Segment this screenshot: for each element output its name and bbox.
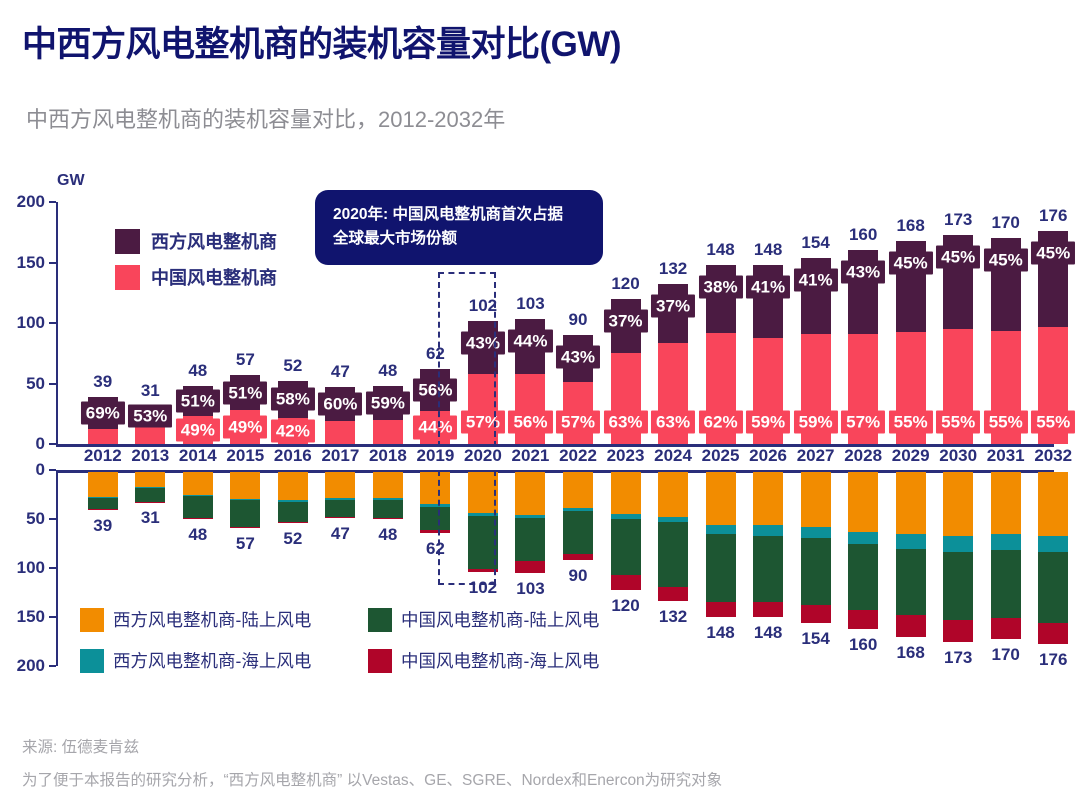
bottom-bar-total-label: 170 [992,645,1020,665]
bottom-bar-segment-china-offshore [230,527,260,528]
top-bar-total-label: 48 [378,361,397,381]
bottom-bar-segment-western-offshore [801,527,831,538]
top-y-tick-label: 100 [17,313,45,333]
bottom-bar-segment-china-offshore [325,517,355,518]
bottom-bar-segment-western-onshore [373,472,403,498]
legend-swatch-western-onshore [80,608,104,632]
legend-item-china-oem[interactable]: 中国风电整机商 [115,264,277,290]
bottom-bar-segment-western-offshore [753,525,783,536]
bottom-bar-segment-china-offshore [563,554,593,560]
top-bar-total-label: 52 [283,356,302,376]
top-y-tick-label: 50 [26,374,45,394]
bottom-bar-segment-western-onshore [943,472,973,536]
top-bar-pct-western: 45% [984,249,1028,272]
bottom-bar [563,472,593,560]
highlight-box-top [438,272,496,447]
bottom-bar-total-label: 48 [188,525,207,545]
top-y-tick [49,322,56,324]
top-y-tick [49,383,56,385]
bottom-bar-segment-china-offshore [135,502,165,503]
top-bar-pct-china: 49% [176,418,220,441]
bottom-y-axis [56,470,58,666]
top-bar-total-label: 47 [331,362,350,382]
bottom-bar-segment-china-offshore [943,620,973,642]
top-bar-total-label: 103 [516,294,544,314]
bottom-bar-segment-china-onshore [1038,552,1068,623]
top-bar-total-label: 39 [93,372,112,392]
x-axis-label-2013: 2013 [131,446,169,466]
bottom-y-tick [49,518,56,520]
bottom-bar-total-label: 176 [1039,650,1067,670]
bottom-bar-segment-china-onshore [848,544,878,611]
top-bar-pct-china: 49% [223,416,267,439]
legend-label-western-oem: 西方风电整机商 [151,228,277,254]
bottom-bar-segment-western-onshore [658,472,688,517]
bottom-bar-segment-china-onshore [325,500,355,518]
definition-footnote: 为了便于本报告的研究分析，“西方风电整机商” 以Vestas、GE、SGRE、N… [22,768,722,790]
callout-annotation: 2020年: 中国风电整机商首次占据 全球最大市场份额 [315,190,603,265]
bottom-bar-total-label: 90 [569,566,588,586]
bottom-bar-segment-china-offshore [991,618,1021,639]
top-bar-pct-western: 43% [556,346,600,369]
bottom-bar [848,472,878,629]
callout-line-1: 2020年: 中国风电整机商首次占据 [333,203,587,227]
bottom-y-tick-label: 50 [26,509,45,529]
bottom-bar-segment-western-offshore [991,534,1021,551]
legend-swatch-western-offshore [80,649,104,673]
bottom-bar-segment-western-onshore [753,472,783,525]
bottom-y-tick-label: 100 [17,558,45,578]
top-bar-segment-china [373,420,403,444]
source-footnote: 来源: 伍德麦肯兹 [22,735,139,757]
top-bar-pct-western: 58% [271,388,315,411]
bottom-bar-segment-china-onshore [278,502,308,522]
top-bar-pct-western: 37% [651,295,695,318]
top-bar-pct-china: 42% [271,419,315,442]
bottom-bar-segment-china-offshore [373,518,403,519]
top-bar-pct-western: 41% [746,275,790,298]
bottom-bar [1038,472,1068,644]
legend-swatch-china-offshore [368,649,392,673]
bottom-bar-segment-china-onshore [611,519,641,576]
bottom-bar-segment-western-offshore [1038,536,1068,553]
legend-item-china-onshore[interactable]: 中国风电整机商-陆上风电 [368,607,599,632]
x-axis-label-2026: 2026 [749,446,787,466]
top-bar-segment-china [135,426,165,444]
x-axis-label-2015: 2015 [226,446,264,466]
bottom-bar-segment-china-onshore [183,496,213,518]
top-bar-pct-western: 38% [699,275,743,298]
bottom-bar-segment-china-offshore [611,575,641,589]
top-bar-total-label: 90 [569,310,588,330]
legend-item-china-offshore[interactable]: 中国风电整机商-海上风电 [368,648,599,673]
top-bar-pct-china: 55% [1031,410,1075,433]
bottom-bar [135,472,165,502]
x-axis-label-2017: 2017 [321,446,359,466]
bottom-bar-total-label: 31 [141,508,160,528]
legend-item-western-offshore[interactable]: 西方风电整机商-海上风电 [80,648,311,673]
bottom-bar [230,472,260,528]
x-axis-label-2018: 2018 [369,446,407,466]
bottom-bar-total-label: 52 [283,529,302,549]
top-bar-total-label: 170 [992,213,1020,233]
bottom-bar [801,472,831,623]
bottom-bar-segment-china-offshore [658,587,688,602]
bottom-bar [515,472,545,573]
x-axis-label-2021: 2021 [512,446,550,466]
top-bar-total-label: 160 [849,225,877,245]
bottom-bar-segment-western-onshore [325,472,355,498]
bottom-bar-segment-western-onshore [611,472,641,514]
top-chart-legend: 西方风电整机商中国风电整机商 [115,228,277,300]
top-bar-pct-western: 45% [1031,242,1075,265]
top-bar-pct-china: 59% [746,410,790,433]
top-bar-pct-western: 59% [366,392,410,415]
bottom-bar-segment-china-offshore [706,602,736,617]
top-y-tick [49,443,56,445]
top-y-tick-label: 150 [17,253,45,273]
bottom-bar-segment-western-onshore [278,472,308,500]
bottom-bar-segment-western-offshore [896,534,926,550]
legend-item-western-onshore[interactable]: 西方风电整机商-陆上风电 [80,607,311,632]
x-axis-label-2030: 2030 [939,446,977,466]
x-axis-label-2016: 2016 [274,446,312,466]
bottom-bar-segment-china-offshore [801,605,831,623]
top-bar-pct-china: 55% [936,410,980,433]
top-y-axis [56,202,58,444]
bottom-bar [611,472,641,590]
x-axis-label-2027: 2027 [797,446,835,466]
bottom-bar-segment-china-offshore [1038,623,1068,645]
bottom-y-tick-label: 0 [36,460,45,480]
top-bar-pct-china: 59% [794,410,838,433]
legend-label-western-onshore: 西方风电整机商-陆上风电 [113,607,311,632]
top-bar-pct-western: 37% [604,309,648,332]
callout-line-2: 全球最大市场份额 [333,227,587,251]
bottom-bar-segment-china-onshore [801,538,831,606]
bottom-bar-segment-western-offshore [943,536,973,553]
x-axis-labels: 2012201320142015201620172018201920202021… [56,446,1054,470]
bottom-bar-total-label: 132 [659,607,687,627]
bottom-bar [991,472,1021,639]
legend-swatch-china-oem [115,265,140,290]
bottom-bar-total-label: 148 [754,623,782,643]
top-bar-segment-china [325,421,355,444]
top-bar-total-label: 173 [944,210,972,230]
top-y-tick [49,262,56,264]
bottom-bar-segment-china-offshore [278,522,308,523]
bottom-bar-segment-china-onshore [706,534,736,603]
bottom-bar-segment-china-onshore [896,549,926,615]
bottom-bar-segment-western-onshore [896,472,926,534]
bottom-bar-total-label: 154 [801,629,829,649]
bottom-bar-segment-western-onshore [563,472,593,508]
top-bar-total-label: 148 [706,240,734,260]
bottom-bar-segment-western-offshore [848,532,878,544]
bottom-bar-segment-china-onshore [515,518,545,561]
bottom-bar [183,472,213,519]
bottom-bar-segment-china-onshore [135,488,165,502]
top-bar-total-label: 48 [188,361,207,381]
bottom-bar [943,472,973,642]
bottom-bar-segment-china-offshore [183,518,213,519]
bottom-bar-segment-china-onshore [943,552,973,620]
bottom-bar-segment-western-onshore [1038,472,1068,536]
legend-label-china-offshore: 中国风电整机商-海上风电 [401,648,599,673]
bottom-bar [373,472,403,519]
bottom-bar-total-label: 39 [93,516,112,536]
x-axis-label-2032: 2032 [1034,446,1072,466]
top-bar-total-label: 132 [659,259,687,279]
top-bar-pct-china: 55% [984,410,1028,433]
bottom-bar-segment-china-offshore [515,561,545,573]
bottom-bar-total-label: 47 [331,524,350,544]
bottom-y-tick [49,616,56,618]
bottom-bar-segment-western-onshore [991,472,1021,534]
bottom-bar [896,472,926,637]
page-subtitle: 中西方风电整机商的装机容量对比，2012-2032年 [26,102,1056,134]
x-axis-label-2020: 2020 [464,446,502,466]
top-y-tick [49,201,56,203]
bottom-y-tick [49,469,56,471]
highlight-box-bottom [438,470,496,585]
bottom-bar-total-label: 148 [706,623,734,643]
x-axis-label-2019: 2019 [417,446,455,466]
top-y-tick-label: 0 [36,434,45,454]
bottom-bar-segment-western-offshore [706,525,736,534]
top-bar-total-label: 176 [1039,206,1067,226]
top-y-tick-label: 200 [17,192,45,212]
bottom-bar-total-label: 48 [378,525,397,545]
bottom-bar [706,472,736,617]
top-bar-total-label: 148 [754,240,782,260]
x-axis-label-2025: 2025 [702,446,740,466]
top-bar-pct-china: 56% [508,410,552,433]
top-bar-pct-western: 45% [936,245,980,268]
bottom-bar-segment-china-offshore [848,610,878,629]
top-bar-pct-china: 55% [889,410,933,433]
bottom-bar-segment-china-onshore [88,498,118,509]
top-bar-pct-china: 57% [556,410,600,433]
legend-swatch-china-onshore [368,608,392,632]
top-bar-pct-western: 51% [223,381,267,404]
bottom-bar-segment-western-onshore [515,472,545,515]
bottom-bar-segment-china-onshore [373,500,403,518]
bottom-bar-total-label: 120 [611,596,639,616]
bottom-y-tick-label: 200 [17,656,45,676]
top-bar-pct-western: 45% [889,251,933,274]
bottom-bar-segment-china-onshore [753,536,783,603]
top-bar-segment-china [88,429,118,444]
y-axis-unit-label: GW [57,172,85,190]
bottom-bar-total-label: 160 [849,635,877,655]
top-bar-total-label: 31 [141,381,160,401]
bottom-bar-segment-western-onshore [801,472,831,527]
x-axis-label-2031: 2031 [987,446,1025,466]
bottom-bar [278,472,308,523]
top-bar-pct-western: 53% [128,405,172,428]
top-bar-pct-china: 62% [699,410,743,433]
bottom-bar-segment-western-onshore [848,472,878,532]
bottom-bar-segment-china-onshore [230,500,260,526]
top-bar-total-label: 168 [896,216,924,236]
legend-item-western-oem[interactable]: 西方风电整机商 [115,228,277,254]
bottom-bar [88,472,118,510]
x-axis-label-2029: 2029 [892,446,930,466]
bottom-y-tick [49,567,56,569]
x-axis-label-2024: 2024 [654,446,692,466]
bottom-bar-segment-western-onshore [230,472,260,499]
top-bar-pct-china: 57% [841,410,885,433]
bottom-bar-total-label: 173 [944,648,972,668]
top-bar-pct-china: 63% [651,410,695,433]
top-bar-pct-western: 51% [176,389,220,412]
bottom-bar-segment-china-onshore [991,550,1021,618]
bottom-bar-segment-china-onshore [563,511,593,554]
bottom-bar [658,472,688,601]
legend-label-western-offshore: 西方风电整机商-海上风电 [113,648,311,673]
legend-swatch-western-oem [115,229,140,254]
top-bar-pct-china: 63% [604,410,648,433]
bottom-bar-segment-china-onshore [658,522,688,587]
bottom-bar-total-label: 168 [896,643,924,663]
bottom-bar [325,472,355,518]
top-bar-segment-china [515,374,545,444]
bottom-bar-segment-western-onshore [706,472,736,525]
x-axis-label-2012: 2012 [84,446,122,466]
bottom-y-tick-label: 150 [17,607,45,627]
bottom-bar-segment-western-onshore [88,472,118,497]
bottom-bar-segment-china-offshore [896,615,926,637]
bottom-bar [753,472,783,617]
bottom-bar-total-label: 57 [236,534,255,554]
bottom-bar-segment-western-onshore [183,472,213,495]
top-bar-total-label: 57 [236,350,255,370]
bottom-bar-segment-china-offshore [88,509,118,510]
x-axis-label-2022: 2022 [559,446,597,466]
bottom-bar-segment-china-offshore [753,602,783,617]
top-bar-pct-western: 60% [318,393,362,416]
x-axis-label-2014: 2014 [179,446,217,466]
x-axis-label-2023: 2023 [607,446,645,466]
legend-label-china-onshore: 中国风电整机商-陆上风电 [401,607,599,632]
bottom-bar-segment-western-onshore [135,472,165,487]
top-bar-pct-western: 44% [508,330,552,353]
legend-label-china-oem: 中国风电整机商 [151,264,277,290]
x-axis-label-2028: 2028 [844,446,882,466]
top-bar-total-label: 154 [801,233,829,253]
top-bar-pct-western: 41% [794,268,838,291]
top-bar-pct-western: 69% [81,402,125,425]
top-bar-total-label: 120 [611,274,639,294]
bottom-bar-total-label: 103 [516,579,544,599]
top-bar-pct-western: 43% [841,261,885,284]
bottom-chart: 0501001502003931485752474862102103901201… [56,470,1054,666]
page-title: 中西方风电整机商的装机容量对比(GW) [22,16,1052,67]
bottom-y-tick [49,665,56,667]
